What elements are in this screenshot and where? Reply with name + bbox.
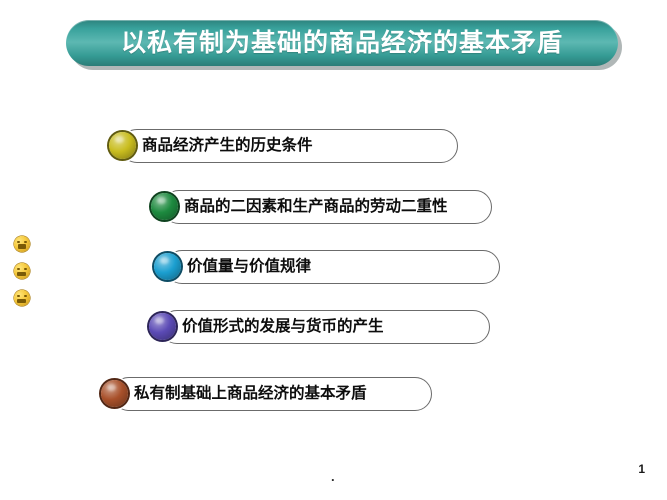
bullet-purple	[149, 313, 176, 340]
slide-canvas: 以私有制为基础的商品经济的基本矛盾 商品经济产生的历史条件 商品的二因素和生产商…	[0, 0, 667, 500]
list-item[interactable]: 商品的二因素和生产商品的劳动二重性	[162, 190, 492, 224]
bullet-yellow	[109, 132, 136, 159]
list-item[interactable]: 私有制基础上商品经济的基本矛盾	[112, 377, 432, 411]
title-banner: 以私有制为基础的商品经济的基本矛盾	[66, 20, 618, 66]
list-item-label: 商品经济产生的历史条件	[142, 129, 313, 163]
footer-dot: .	[331, 470, 335, 483]
list-item[interactable]: 商品经济产生的历史条件	[120, 129, 458, 163]
emoji-strip	[14, 236, 32, 317]
smiling-face-icon	[14, 263, 31, 280]
grinning-face-icon	[14, 236, 31, 253]
list-item-label: 价值量与价值规律	[187, 250, 311, 284]
list-item[interactable]: 价值量与价值规律	[165, 250, 500, 284]
page-title: 以私有制为基础的商品经济的基本矛盾	[121, 31, 563, 56]
list-item[interactable]: 价值形式的发展与货币的产生	[160, 310, 490, 344]
bullet-cyan	[154, 253, 181, 280]
bullet-brown	[101, 380, 128, 407]
winking-face-icon	[14, 290, 31, 307]
list-item-label: 价值形式的发展与货币的产生	[182, 310, 384, 344]
list-item-label: 商品的二因素和生产商品的劳动二重性	[184, 190, 448, 224]
bullet-green	[151, 193, 178, 220]
list-item-label: 私有制基础上商品经济的基本矛盾	[134, 377, 367, 411]
page-number: 1	[638, 463, 645, 475]
